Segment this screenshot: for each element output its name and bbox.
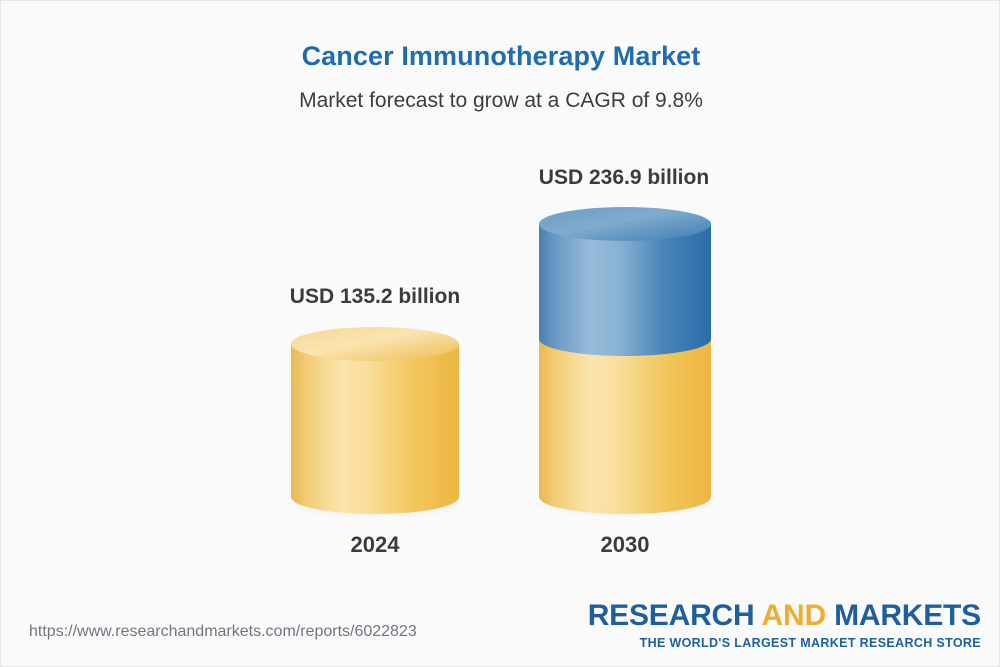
category-label-2030: 2030 <box>525 532 725 558</box>
brand-word-research: RESEARCH <box>588 599 755 632</box>
page-title: Cancer Immunotherapy Market <box>1 41 1000 72</box>
brand-logo: RESEARCH AND MARKETS THE WORLD'S LARGEST… <box>588 601 981 650</box>
brand-wordmark: RESEARCH AND MARKETS <box>588 601 981 631</box>
bar-cylinder-2030 <box>531 199 731 529</box>
value-label-2024: USD 135.2 billion <box>275 285 475 309</box>
report-url[interactable]: https://www.researchandmarkets.com/repor… <box>29 623 417 641</box>
brand-word-markets: MARKETS <box>834 599 981 632</box>
chart-canvas: Cancer Immunotherapy Market Market forec… <box>0 0 1000 667</box>
chart-subtitle: Market forecast to grow at a CAGR of 9.8… <box>1 89 1000 113</box>
category-label-2024: 2024 <box>275 532 475 558</box>
bar-cylinder-2024 <box>283 319 483 529</box>
brand-tagline: THE WORLD'S LARGEST MARKET RESEARCH STOR… <box>588 637 981 650</box>
brand-word-and: AND <box>762 599 826 632</box>
value-label-2030: USD 236.9 billion <box>524 166 724 190</box>
